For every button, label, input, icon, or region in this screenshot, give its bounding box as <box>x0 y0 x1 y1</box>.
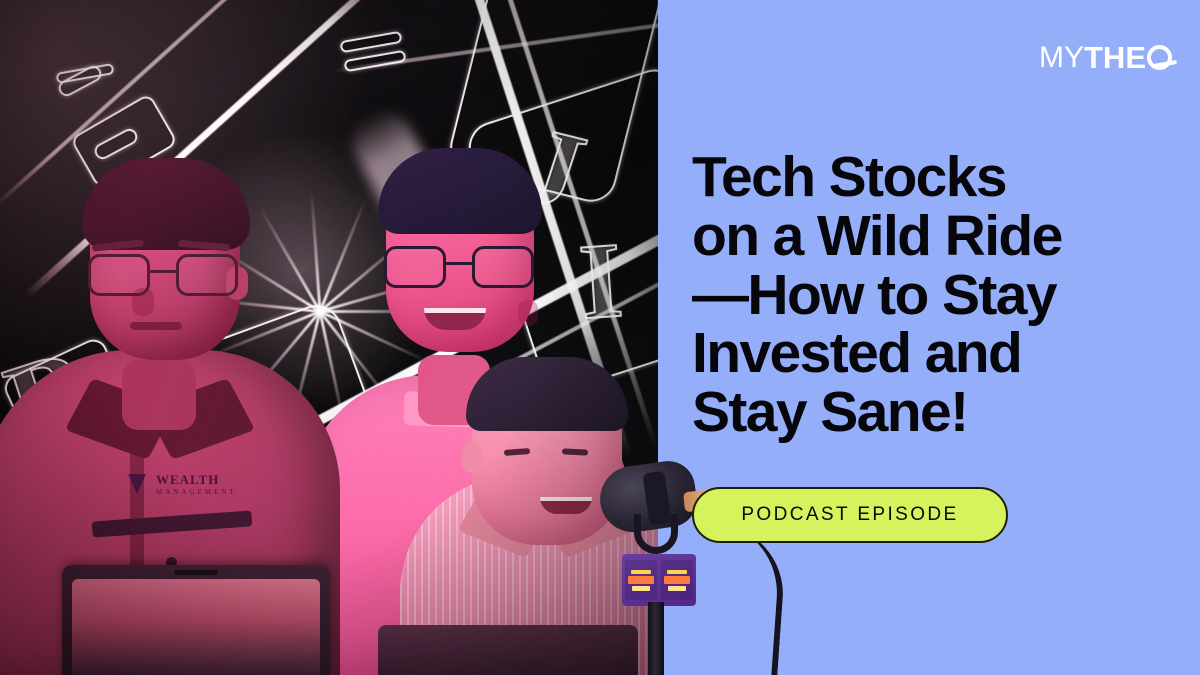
brand-logo[interactable]: MY THE <box>1039 42 1172 73</box>
thumbnail-canvas: J I P <box>0 0 1200 675</box>
o-ring-icon <box>1147 45 1172 70</box>
hero-photo: J I P <box>0 0 658 675</box>
host-center-hair <box>378 148 542 234</box>
host-center-glasses-icon <box>380 246 544 292</box>
host-left-glasses-icon <box>84 254 246 298</box>
host-center-nose <box>518 300 538 326</box>
microphone-flag <box>622 554 696 606</box>
microphone-stand <box>648 602 664 675</box>
tablet-device <box>62 565 330 675</box>
host-right-ear <box>462 441 482 473</box>
host-left-nose <box>132 288 154 316</box>
tablet-camera-icon <box>174 570 218 575</box>
status-badge[interactable]: PODCAST EPISODE <box>692 487 1008 543</box>
tablet-screen <box>72 579 320 675</box>
laptop-device <box>378 625 638 675</box>
host-right-eye <box>562 448 588 455</box>
host-left-hair <box>82 158 250 250</box>
microphone-flag-logo-icon <box>625 560 657 600</box>
microphone-flag-logo-icon <box>661 560 693 600</box>
shirt-text-primary: WEALTH <box>156 472 237 488</box>
status-badge-label: PODCAST EPISODE <box>741 504 958 526</box>
host-left-neck <box>122 360 196 430</box>
page-title: Tech Stocks on a Wild Ride —How to Stay … <box>692 148 1162 442</box>
brand-logo-main: THE <box>1084 42 1146 73</box>
host-left-logo-mark-icon <box>128 474 146 494</box>
host-left-mouth <box>130 322 182 330</box>
host-right-hair <box>466 357 628 431</box>
host-left-shirt-embroidery: WEALTH MANAGEMENT <box>156 472 237 496</box>
shirt-text-secondary: MANAGEMENT <box>156 488 237 496</box>
brand-logo-prefix: MY <box>1039 43 1084 73</box>
